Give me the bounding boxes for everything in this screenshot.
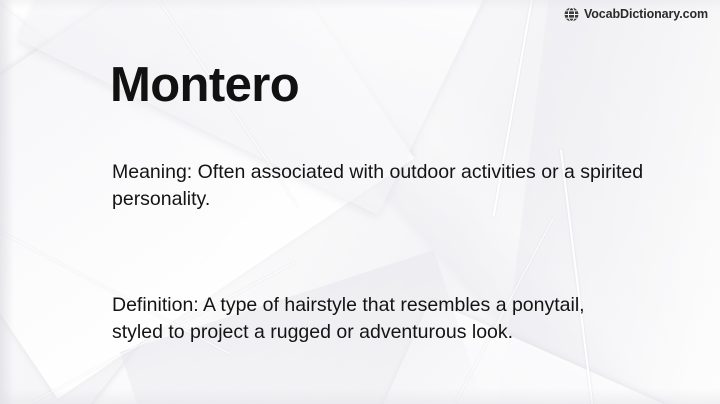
meaning-text: Meaning: Often associated with outdoor a…: [112, 159, 672, 212]
globe-icon: [564, 7, 579, 22]
slide-content: VocabDictionary.com Montero Meaning: Oft…: [0, 0, 720, 404]
site-branding[interactable]: VocabDictionary.com: [564, 7, 708, 22]
definition-text: Definition: A type of hairstyle that res…: [112, 292, 637, 345]
page-title: Montero: [110, 60, 299, 111]
vocabulary-slide: VocabDictionary.com Montero Meaning: Oft…: [0, 0, 720, 404]
site-name: VocabDictionary.com: [584, 8, 708, 21]
